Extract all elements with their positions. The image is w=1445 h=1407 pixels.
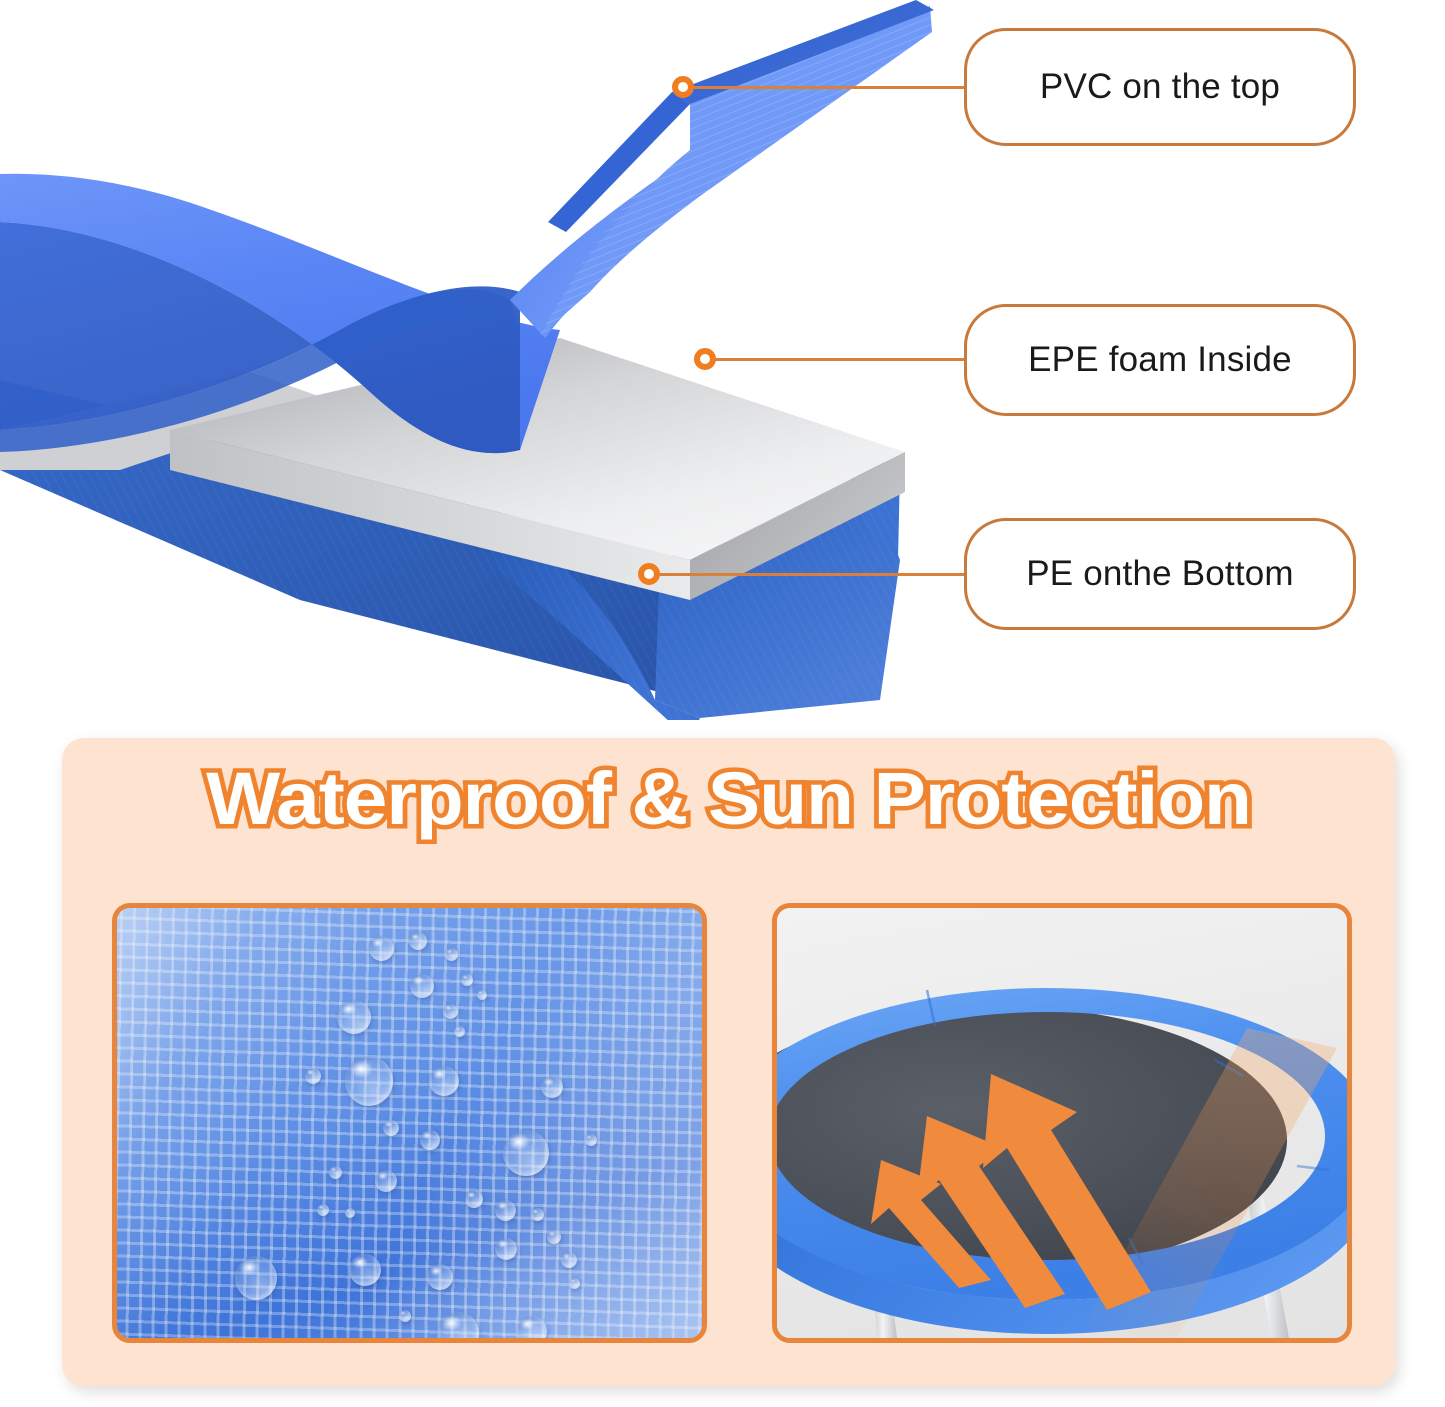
material-layers-section: PVC on the top EPE foam Inside PE onthe … — [0, 0, 1445, 730]
photo-sun-protection — [772, 903, 1352, 1343]
water-droplet — [561, 1252, 577, 1268]
callout-pe-on-the-bottom: PE onthe Bottom — [964, 518, 1356, 630]
water-droplet — [429, 1066, 459, 1096]
water-droplet — [420, 1130, 440, 1150]
water-droplet — [410, 974, 434, 998]
waterproof-photo-inner — [117, 908, 702, 1338]
leader-dot-icon-pvc — [672, 76, 694, 98]
callout-epe-foam-inside: EPE foam Inside — [964, 304, 1356, 416]
water-droplet — [375, 1170, 397, 1192]
water-droplet — [369, 936, 394, 961]
water-droplet — [495, 1238, 517, 1260]
water-droplet — [329, 1166, 342, 1179]
water-droplet — [383, 1120, 399, 1136]
water-droplet — [399, 1310, 411, 1322]
infographic-page: PVC on the top EPE foam Inside PE onthe … — [0, 0, 1445, 1407]
leader-line-pe — [656, 573, 968, 576]
water-droplet — [235, 1256, 277, 1300]
water-droplet — [345, 1208, 355, 1218]
water-droplet — [585, 1134, 597, 1146]
water-droplet — [503, 1130, 549, 1176]
water-droplet — [305, 1068, 321, 1084]
water-droplet — [345, 1056, 393, 1106]
photo-waterproof — [112, 903, 707, 1343]
water-droplet — [569, 1278, 580, 1289]
water-droplet — [531, 1208, 544, 1221]
trampoline-pad-illustration — [777, 908, 1347, 1338]
water-droplet — [445, 948, 458, 961]
water-droplet — [541, 1076, 563, 1098]
water-droplet — [495, 1200, 516, 1221]
water-droplet — [337, 1000, 371, 1034]
water-droplet — [517, 1316, 547, 1343]
water-droplet — [443, 1004, 458, 1019]
feature-heading: Waterproof & Sun Protection — [22, 762, 1435, 836]
water-droplet — [477, 990, 487, 1000]
leader-line-epe — [712, 358, 968, 361]
leader-dot-icon-epe — [694, 348, 716, 370]
water-droplet — [349, 1254, 381, 1286]
water-droplet — [454, 1026, 465, 1037]
water-droplet — [465, 1190, 483, 1208]
callout-label-pe: PE onthe Bottom — [1026, 554, 1294, 594]
callout-label-pvc: PVC on the top — [1040, 67, 1280, 107]
feature-panel: Waterproof & Sun Protection — [62, 738, 1395, 1386]
water-droplet — [461, 974, 473, 986]
sun-photo-inner — [777, 908, 1347, 1338]
water-droplet — [547, 1230, 561, 1244]
callout-label-epe: EPE foam Inside — [1028, 340, 1292, 380]
callout-pvc-on-the-top: PVC on the top — [964, 28, 1356, 146]
leader-dot-icon-pe — [638, 563, 660, 585]
water-droplet — [317, 1204, 329, 1216]
leader-line-pvc — [690, 86, 968, 89]
water-droplet — [409, 932, 427, 950]
water-droplet — [427, 1264, 453, 1290]
mesh-weave-texture — [112, 903, 707, 1343]
